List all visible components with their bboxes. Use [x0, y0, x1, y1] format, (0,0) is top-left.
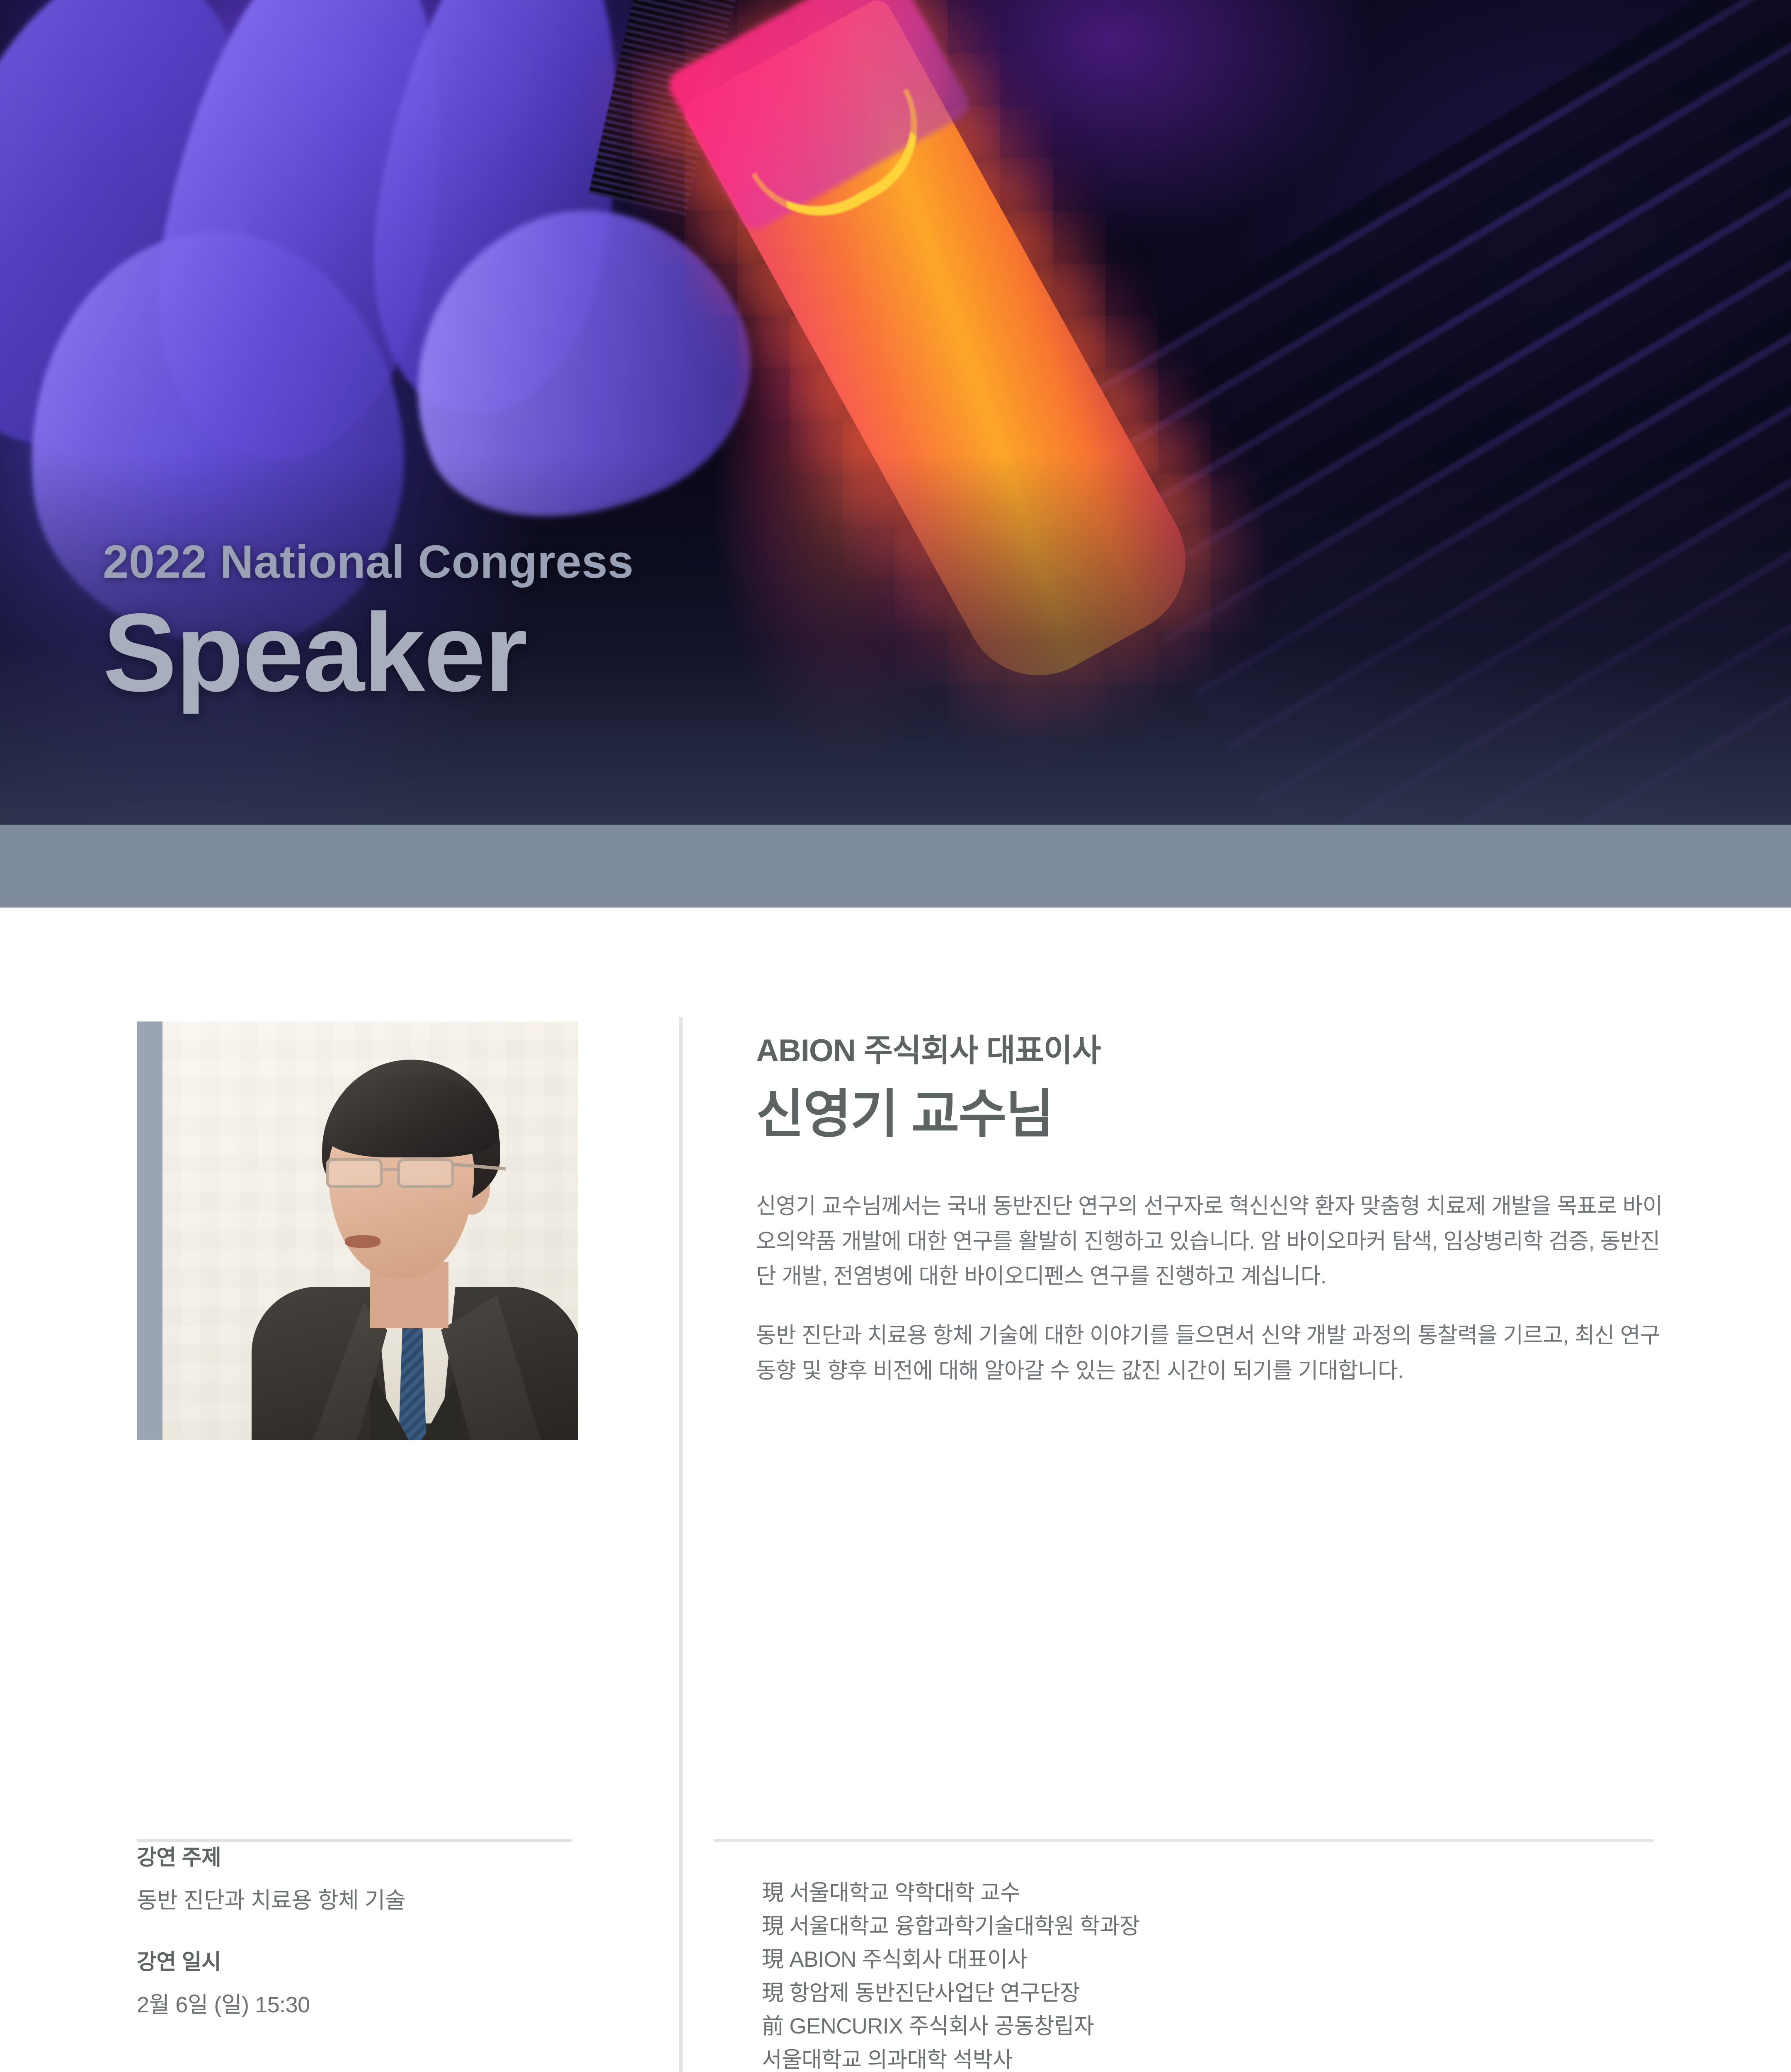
glasses-lens-left — [326, 1158, 383, 1188]
content-area: 강연 주제 동반 진단과 치료용 항체 기술 강연 일시 2월 6일 (일) 1… — [0, 908, 1791, 2072]
grey-accent-band — [0, 825, 1791, 908]
list-item: 서울대학교 의과대학 석박사 — [762, 2043, 1139, 2072]
list-item: 現 서울대학교 융합과학기술대학원 학과장 — [762, 1910, 1139, 1944]
speaker-details-block: ABION 주식회사 대표이사 신영기 교수님 신영기 교수님께서는 국내 동반… — [756, 908, 1668, 1389]
avatar — [137, 1021, 578, 1440]
glasses-icon — [323, 1158, 463, 1190]
bio-paragraph: 신영기 교수님께서는 국내 동반진단 연구의 선구자로 혁신신약 환자 맞춤형 … — [756, 1189, 1668, 1294]
page-title: Speaker — [103, 596, 634, 709]
list-item: 現 ABION 주식회사 대표이사 — [762, 1943, 1139, 1977]
list-item: 現 서울대학교 약학대학 교수 — [762, 1876, 1139, 1910]
right-divider — [714, 1839, 1654, 1842]
bio-paragraph: 동반 진단과 치료용 항체 기술에 대한 이야기를 들으면서 신약 개발 과정의… — [756, 1318, 1668, 1389]
speaker-portrait-photo — [162, 1021, 578, 1440]
lecture-info-block: 강연 주제 동반 진단과 치료용 항체 기술 강연 일시 2월 6일 (일) 1… — [137, 1840, 584, 2019]
lecture-topic-label: 강연 주제 — [137, 1840, 584, 1871]
portrait-mouth — [345, 1235, 380, 1248]
speaker-role: ABION 주식회사 대표이사 — [756, 1032, 1668, 1070]
hero-banner: 2022 National Congress Speaker — [0, 0, 1791, 825]
speaker-poster: 2022 National Congress Speaker — [0, 0, 1791, 2072]
list-item: 現 항암제 동반진단사업단 연구단장 — [762, 1977, 1139, 2010]
spacer — [137, 1915, 584, 1944]
list-item: 前 GENCURIX 주식회사 공동창립자 — [762, 2010, 1139, 2043]
event-kicker: 2022 National Congress — [103, 539, 634, 585]
career-list: 現 서울대학교 약학대학 교수 現 서울대학교 융합과학기술대학원 학과장 現 … — [762, 1876, 1139, 2072]
speaker-name: 신영기 교수님 — [756, 1084, 1668, 1145]
column-divider — [679, 1017, 683, 2072]
lecture-datetime-value: 2월 6일 (일) 15:30 — [137, 1986, 584, 2019]
hero-text-block: 2022 National Congress Speaker — [103, 539, 634, 709]
speaker-bio: 신영기 교수님께서는 국내 동반진단 연구의 선구자로 혁신신약 환자 맞춤형 … — [756, 1189, 1668, 1389]
glasses-lens-right — [397, 1158, 454, 1188]
portrait-accent-bar — [137, 1021, 162, 1440]
lecture-topic-value: 동반 진단과 치료용 항체 기술 — [137, 1882, 584, 1915]
lecture-datetime-label: 강연 일시 — [137, 1944, 584, 1975]
